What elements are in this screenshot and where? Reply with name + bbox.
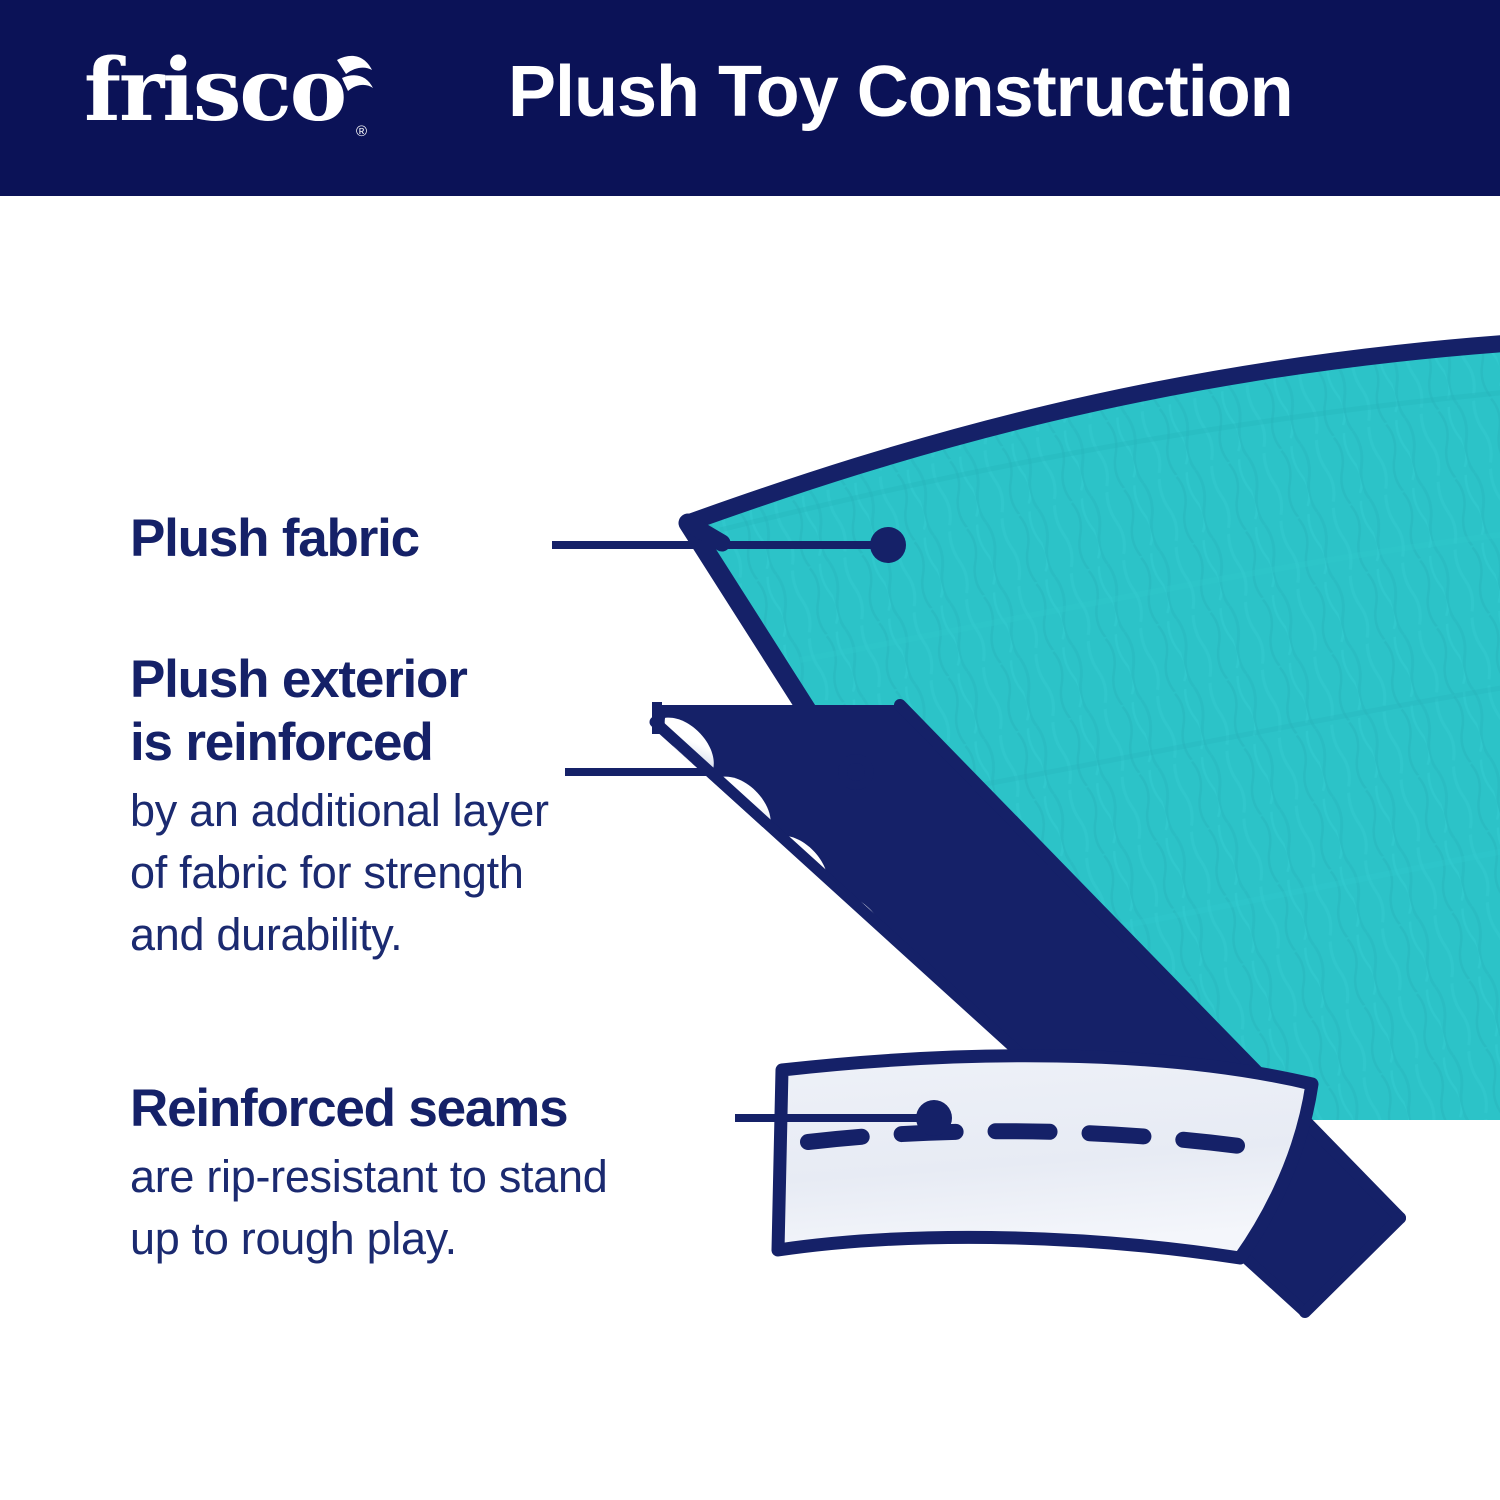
- callout-marker-dot-3: [916, 1100, 952, 1136]
- callout-1-heading: Plush fabric: [130, 507, 560, 570]
- leader-line-1: [552, 541, 892, 549]
- callout-plush-exterior-reinforced: Plush exterior is reinforced by an addit…: [130, 648, 730, 966]
- registered-trademark-mark: ®: [356, 124, 367, 139]
- callout-plush-fabric: Plush fabric: [130, 507, 560, 570]
- callout-reinforced-seams: Reinforced seams are rip-resistant to st…: [130, 1077, 790, 1270]
- header-bar: frisco ® Plush Toy Construction: [0, 0, 1500, 196]
- reinforced-seam-flap: [778, 1056, 1312, 1258]
- callout-marker-ring-2: [838, 754, 874, 790]
- page-title: Plush Toy Construction: [508, 42, 1293, 142]
- frisco-logo: frisco ®: [84, 36, 384, 146]
- callout-3-body: are rip-resistant to stand up to rough p…: [130, 1146, 790, 1270]
- infographic-page: frisco ® Plush Toy Construction: [0, 0, 1500, 1500]
- leader-line-2: [565, 768, 859, 776]
- leader-line-3: [735, 1114, 937, 1122]
- callout-2-body: by an additional layer of fabric for str…: [130, 780, 730, 966]
- callout-marker-dot-1: [870, 527, 906, 563]
- frisco-swoosh-icon: [84, 36, 384, 146]
- callout-3-heading: Reinforced seams: [130, 1077, 790, 1140]
- callout-2-heading: Plush exterior is reinforced: [130, 648, 730, 774]
